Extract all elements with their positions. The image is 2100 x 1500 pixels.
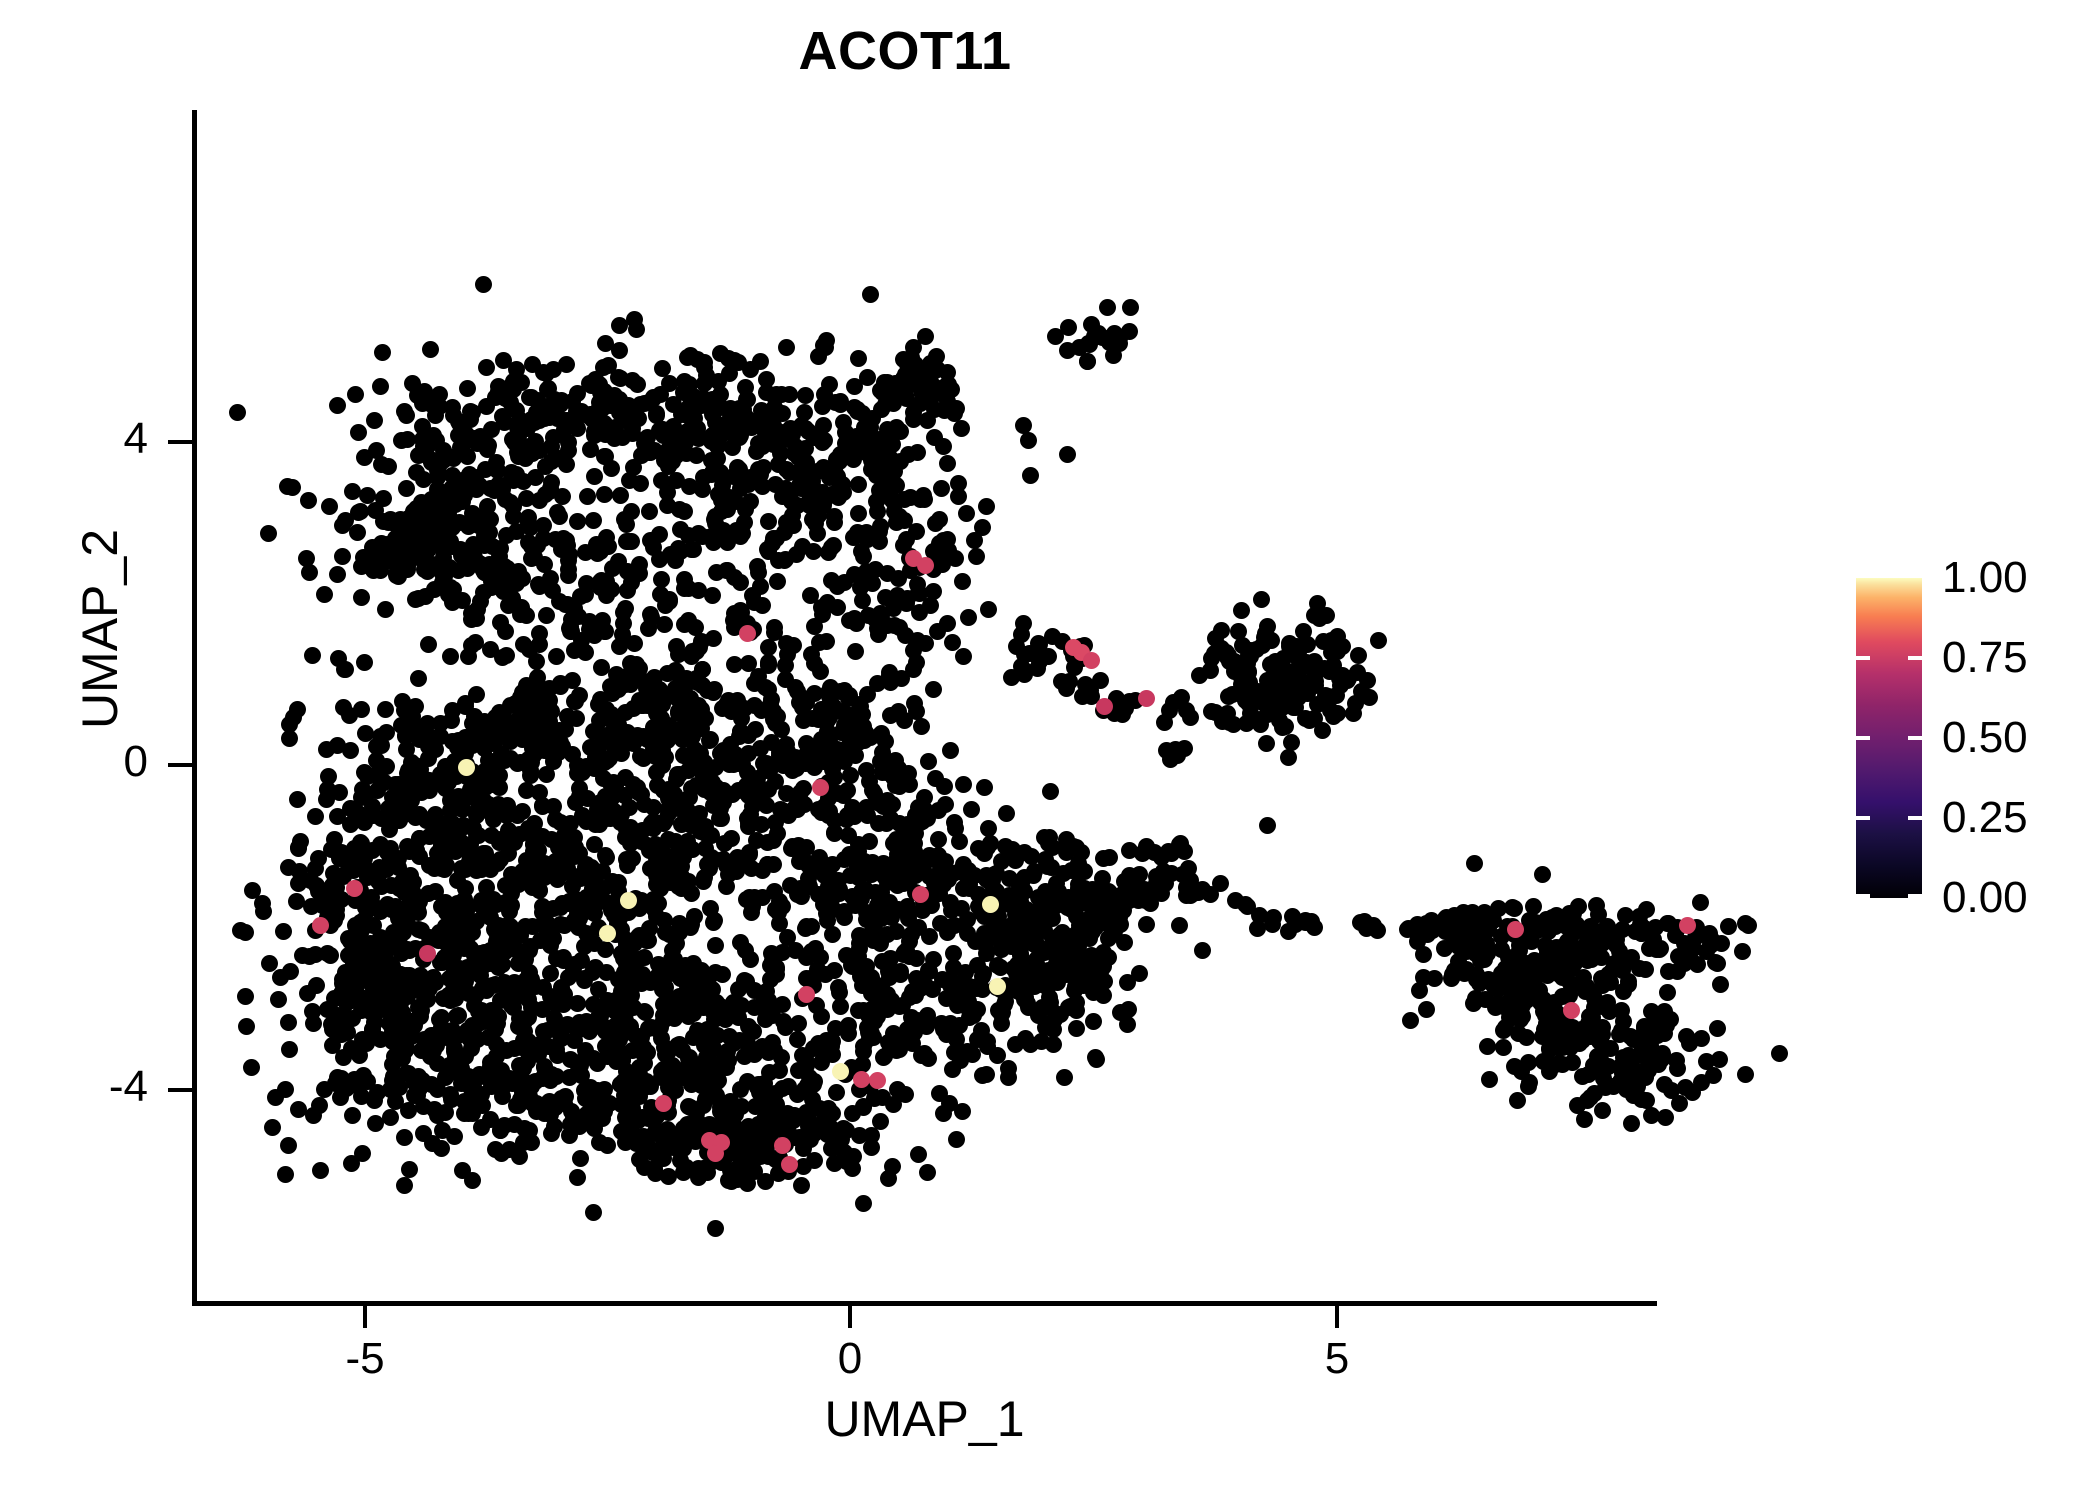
color-legend: 1.00 0.75 0.50 0.25 0.00 (1856, 578, 2096, 918)
scatter-point (497, 623, 514, 640)
scatter-point (884, 1158, 901, 1175)
scatter-point (1079, 353, 1096, 370)
scatter-point (665, 418, 682, 435)
scatter-point (955, 856, 972, 873)
scatter-point (1096, 698, 1113, 715)
scatter-point (765, 1104, 782, 1121)
scatter-point (1146, 844, 1163, 861)
legend-label-0-75: 0.75 (1942, 636, 2028, 680)
scatter-point (1734, 943, 1751, 960)
scatter-point (264, 1119, 281, 1136)
scatter-point (591, 712, 608, 729)
scatter-point (277, 1081, 294, 1098)
scatter-point (599, 925, 616, 942)
scatter-point (443, 486, 460, 503)
scatter-point (779, 747, 796, 764)
scatter-point (930, 831, 947, 848)
scatter-point (1191, 667, 1208, 684)
scatter-point (852, 579, 869, 596)
scatter-point (607, 419, 624, 436)
scatter-point (774, 488, 791, 505)
scatter-point (457, 861, 474, 878)
scatter-point (350, 424, 367, 441)
scatter-point (1358, 920, 1375, 937)
scatter-point (384, 1056, 401, 1073)
scatter-point (471, 477, 488, 494)
legend-label-0-50: 0.50 (1942, 716, 2028, 760)
scatter-point (704, 587, 721, 604)
scatter-point (830, 785, 847, 802)
scatter-point (1265, 909, 1282, 926)
scatter-point (1709, 955, 1726, 972)
scatter-point (511, 411, 528, 428)
scatter-point (557, 721, 574, 738)
scatter-point (399, 431, 416, 448)
scatter-point (496, 1117, 513, 1134)
scatter-point (353, 701, 370, 718)
scatter-point (379, 844, 396, 861)
scatter-point (749, 558, 766, 575)
scatter-point (828, 1084, 845, 1101)
scatter-point (419, 715, 436, 732)
scatter-point (855, 1043, 872, 1060)
scatter-point (630, 951, 647, 968)
scatter-point (881, 664, 898, 681)
scatter-point (874, 744, 891, 761)
scatter-point (454, 1162, 471, 1179)
scatter-point (1418, 1001, 1435, 1018)
x-tick-mark-0 (848, 1306, 852, 1328)
scatter-point (375, 490, 392, 507)
scatter-point (1320, 688, 1337, 705)
scatter-point (1740, 917, 1757, 934)
scatter-point (1167, 741, 1184, 758)
scatter-point (623, 503, 640, 520)
scatter-point (356, 449, 373, 466)
scatter-point (806, 618, 823, 635)
scatter-point (1415, 946, 1432, 963)
scatter-point (320, 768, 337, 785)
scatter-point (951, 833, 968, 850)
scatter-point (1659, 984, 1676, 1001)
scatter-point (659, 665, 676, 682)
scatter-point (535, 530, 552, 547)
scatter-point (1506, 900, 1523, 917)
scatter-point (703, 466, 720, 483)
scatter-point (877, 589, 894, 606)
scatter-point (342, 742, 359, 759)
scatter-point (645, 813, 662, 830)
scatter-point (1259, 817, 1276, 834)
scatter-point (697, 818, 714, 835)
scatter-point (468, 610, 485, 627)
scatter-point (778, 339, 795, 356)
scatter-point (1277, 718, 1294, 735)
scatter-point (820, 1100, 837, 1117)
scatter-point (655, 1095, 672, 1112)
scatter-point (1253, 591, 1270, 608)
scatter-point (980, 601, 997, 618)
scatter-point (434, 1122, 451, 1139)
scatter-point (888, 1042, 905, 1059)
scatter-point (955, 648, 972, 665)
scatter-point (818, 905, 835, 922)
scatter-point (695, 873, 712, 890)
scatter-point (354, 999, 371, 1016)
scatter-point (660, 1079, 677, 1096)
scatter-point (1493, 979, 1510, 996)
scatter-point (469, 732, 486, 749)
scatter-point (1230, 623, 1247, 640)
scatter-point (746, 1163, 763, 1180)
scatter-point (850, 505, 867, 522)
scatter-point (535, 1023, 552, 1040)
scatter-point (406, 537, 423, 554)
scatter-point (621, 973, 638, 990)
scatter-point (879, 874, 896, 891)
scatter-point (1263, 632, 1280, 649)
scatter-point (307, 860, 324, 877)
scatter-point (845, 1148, 862, 1165)
scatter-point (400, 1102, 417, 1119)
scatter-point (1095, 850, 1112, 867)
scatter-point (528, 404, 545, 421)
scatter-point (335, 699, 352, 716)
scatter-point (1652, 1013, 1669, 1030)
scatter-point (329, 397, 346, 414)
scatter-point (907, 867, 924, 884)
scatter-point (818, 633, 835, 650)
scatter-point (366, 1092, 383, 1109)
scatter-point (806, 481, 823, 498)
scatter-point (1030, 1007, 1047, 1024)
scatter-point (1580, 1026, 1597, 1043)
scatter-point (457, 790, 474, 807)
scatter-point (1361, 689, 1378, 706)
scatter-point (598, 529, 615, 546)
scatter-point (1042, 994, 1059, 1011)
scatter-point (374, 344, 391, 361)
scatter-point (853, 1071, 870, 1088)
scatter-point (535, 684, 552, 701)
scatter-point (797, 747, 814, 764)
scatter-point (949, 975, 966, 992)
scatter-point (539, 1102, 556, 1119)
scatter-point (410, 670, 427, 687)
scatter-point (1709, 1020, 1726, 1037)
scatter-point (396, 1177, 413, 1194)
scatter-point (1479, 1038, 1496, 1055)
scatter-point (357, 725, 374, 742)
scatter-point (1119, 974, 1136, 991)
scatter-point (458, 759, 475, 776)
page-title: ACOT11 (0, 20, 1810, 82)
scatter-point (1020, 432, 1037, 449)
scatter-point (774, 405, 791, 422)
scatter-point (853, 525, 870, 542)
scatter-point (1592, 1051, 1609, 1068)
scatter-point (578, 1106, 595, 1123)
scatter-point (562, 618, 579, 635)
scatter-point (668, 472, 685, 489)
scatter-point (486, 482, 503, 499)
scatter-point (441, 559, 458, 576)
scatter-point (646, 442, 663, 459)
scatter-point (459, 380, 476, 397)
scatter-point (577, 586, 594, 603)
scatter-point (1411, 982, 1428, 999)
scatter-point (277, 1166, 294, 1183)
scatter-point (1309, 595, 1326, 612)
scatter-point (417, 771, 434, 788)
scatter-point (631, 556, 648, 573)
scatter-point (829, 578, 846, 595)
scatter-point (237, 988, 254, 1005)
scatter-point (661, 593, 678, 610)
scatter-point (765, 856, 782, 873)
scatter-point (941, 1095, 958, 1112)
scatter-point (1311, 610, 1328, 627)
scatter-point (566, 642, 583, 659)
scatter-point (1149, 882, 1166, 899)
scatter-point (290, 840, 307, 857)
scatter-point (510, 1097, 527, 1114)
scatter-point (604, 873, 621, 890)
scatter-point (449, 907, 466, 924)
scatter-point (1402, 1012, 1419, 1029)
scatter-point (816, 867, 833, 884)
scatter-point (321, 498, 338, 515)
scatter-point (998, 805, 1015, 822)
scatter-point (910, 1146, 927, 1163)
scatter-point (1138, 690, 1155, 707)
scatter-points-layer (192, 110, 1852, 1306)
scatter-point (511, 1148, 528, 1165)
scatter-point (626, 311, 643, 328)
scatter-point (613, 745, 630, 762)
scatter-point (760, 639, 777, 656)
scatter-point (344, 1107, 361, 1124)
scatter-point (339, 994, 356, 1011)
scatter-point (648, 764, 665, 781)
scatter-point (388, 565, 405, 582)
scatter-point (1010, 967, 1027, 984)
scatter-point (903, 926, 920, 943)
scatter-point (793, 1177, 810, 1194)
scatter-point (611, 342, 628, 359)
scatter-point (826, 824, 843, 841)
scatter-point (517, 725, 534, 742)
scatter-point (869, 1072, 886, 1089)
scatter-point (948, 400, 965, 417)
scatter-point (942, 742, 959, 759)
scatter-point (860, 1007, 877, 1024)
scatter-point (611, 998, 628, 1015)
scatter-point (1334, 667, 1351, 684)
scatter-point (1182, 872, 1199, 889)
scatter-point (1280, 749, 1297, 766)
scatter-point (304, 647, 321, 664)
scatter-point (483, 1078, 500, 1095)
scatter-point (873, 978, 890, 995)
scatter-point (888, 514, 905, 531)
scatter-point (530, 1041, 547, 1058)
scatter-point (1299, 636, 1316, 653)
x-tick-label-0: 0 (770, 1334, 930, 1384)
scatter-point (939, 455, 956, 472)
scatter-point (671, 501, 688, 518)
scatter-point (652, 865, 669, 882)
scatter-point (1507, 921, 1524, 938)
scatter-point (747, 1043, 764, 1060)
scatter-point (1045, 1036, 1062, 1053)
scatter-point (1737, 1066, 1754, 1083)
scatter-point (383, 544, 400, 561)
colorbar-tick-right-1 (1908, 656, 1922, 660)
scatter-point (489, 1015, 506, 1032)
scatter-point (657, 749, 674, 766)
scatter-point (460, 648, 477, 665)
scatter-point (300, 492, 317, 509)
scatter-point (312, 917, 329, 934)
scatter-point (570, 868, 587, 885)
scatter-point (579, 488, 596, 505)
scatter-point (917, 557, 934, 574)
scatter-point (517, 450, 534, 467)
scatter-point (729, 692, 746, 709)
scatter-point (1131, 866, 1148, 883)
scatter-point (1060, 319, 1077, 336)
scatter-point (905, 411, 922, 428)
scatter-point (734, 525, 751, 542)
x-tick-mark-neg5 (363, 1306, 367, 1328)
scatter-point (469, 1031, 486, 1048)
scatter-point (1173, 689, 1190, 706)
scatter-point (842, 767, 859, 784)
scatter-point (409, 387, 426, 404)
scatter-point (642, 532, 659, 549)
scatter-point (1194, 942, 1211, 959)
x-axis-title: UMAP_1 (192, 1390, 1657, 1448)
scatter-point (1000, 1060, 1017, 1077)
scatter-point (1227, 892, 1244, 909)
scatter-point (312, 1162, 329, 1179)
scatter-point (901, 830, 918, 847)
scatter-point (832, 998, 849, 1015)
scatter-point (850, 350, 867, 367)
scatter-point (769, 573, 786, 590)
y-axis-title-wrap: UMAP_2 (71, 229, 129, 1029)
scatter-point (1679, 917, 1696, 934)
scatter-point (840, 690, 857, 707)
scatter-point (929, 623, 946, 640)
scatter-point (1712, 976, 1729, 993)
scatter-point (396, 1129, 413, 1146)
scatter-point (612, 487, 629, 504)
scatter-point (919, 1007, 936, 1024)
scatter-point (724, 786, 741, 803)
scatter-point (789, 1031, 806, 1048)
scatter-point (314, 897, 331, 914)
scatter-point (475, 276, 492, 293)
scatter-point (318, 791, 335, 808)
scatter-point (372, 378, 389, 395)
scatter-point (689, 674, 706, 691)
scatter-point (280, 1014, 297, 1031)
scatter-point (586, 468, 603, 485)
scatter-point (1072, 895, 1089, 912)
scatter-point (938, 1026, 955, 1043)
scatter-point (462, 940, 479, 957)
scatter-point (1698, 1053, 1715, 1070)
scatter-point (1720, 918, 1737, 935)
scatter-point (812, 663, 829, 680)
scatter-point (422, 341, 439, 358)
scatter-point (774, 1137, 791, 1154)
scatter-point (598, 587, 615, 604)
scatter-point (729, 459, 746, 476)
scatter-point (651, 551, 668, 568)
scatter-point (685, 541, 702, 558)
scatter-point (479, 441, 496, 458)
scatter-point (690, 393, 707, 410)
scatter-point (1226, 663, 1243, 680)
scatter-point (862, 286, 879, 303)
scatter-point (1693, 1074, 1710, 1091)
scatter-point (758, 371, 775, 388)
scatter-point (332, 1089, 349, 1106)
scatter-point (818, 1032, 835, 1049)
scatter-point (724, 439, 741, 456)
scatter-point (618, 851, 635, 868)
scatter-point (1055, 865, 1072, 882)
scatter-point (655, 1012, 672, 1029)
scatter-point (349, 524, 366, 541)
scatter-point (377, 601, 394, 618)
scatter-point (496, 389, 513, 406)
scatter-point (798, 986, 815, 1003)
scatter-point (712, 1099, 729, 1116)
scatter-point (567, 410, 584, 427)
scatter-point (790, 1015, 807, 1032)
scatter-point (944, 634, 961, 651)
scatter-point (599, 1048, 616, 1065)
scatter-point (795, 1140, 812, 1157)
scatter-point (291, 863, 308, 880)
scatter-point (886, 463, 903, 480)
scatter-point (584, 964, 601, 981)
scatter-point (1291, 674, 1308, 691)
scatter-point (794, 538, 811, 555)
scatter-point (774, 944, 791, 961)
scatter-point (851, 940, 868, 957)
scatter-point (1238, 715, 1255, 732)
scatter-point (671, 924, 688, 941)
scatter-point (820, 684, 837, 701)
scatter-point (849, 893, 866, 910)
scatter-point (543, 438, 560, 455)
scatter-point (344, 483, 361, 500)
scatter-point (357, 899, 374, 916)
scatter-point (521, 1122, 538, 1139)
scatter-point (1233, 602, 1250, 619)
scatter-point (839, 444, 856, 461)
scatter-point (742, 1021, 759, 1038)
scatter-point (1657, 1109, 1674, 1126)
scatter-point (926, 429, 943, 446)
scatter-point (542, 480, 559, 497)
scatter-point (288, 893, 305, 910)
